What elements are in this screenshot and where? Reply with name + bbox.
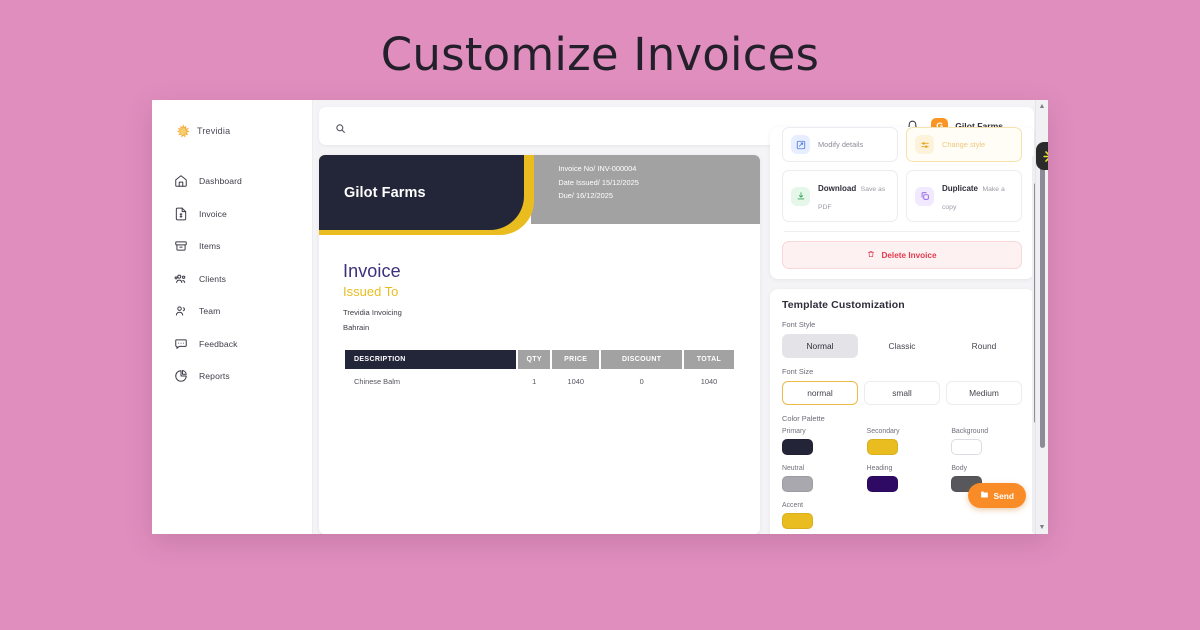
invoice-meta: Invoice No/ INV-000004 Date Issued/ 15/1… xyxy=(548,162,760,203)
panel-title: Template Customization xyxy=(782,299,1022,311)
sidebar-item-clients[interactable]: Clients xyxy=(152,266,312,292)
scroll-up-arrow-icon[interactable]: ▲ xyxy=(1039,103,1046,110)
invoice-actions-panel: Modify details Change st xyxy=(770,127,1034,279)
invoice-line-items-table: DESCRIPTION QTY PRICE DISCOUNT TOTAL Chi… xyxy=(343,350,736,394)
sidebar-item-label: Items xyxy=(199,241,221,251)
download-title: Download xyxy=(818,184,856,193)
font-style-options: Normal Classic Round xyxy=(782,334,1022,358)
divider xyxy=(784,231,1020,232)
right-panel-column: Modify details Change st xyxy=(770,155,1034,534)
window-scrollbar-thumb[interactable] xyxy=(1040,148,1045,448)
swatch-chip[interactable] xyxy=(867,476,898,492)
sliders-icon xyxy=(915,135,934,154)
users-group-icon xyxy=(174,272,188,286)
swatch-chip[interactable] xyxy=(782,439,813,455)
search-icon xyxy=(335,121,346,132)
team-people-icon xyxy=(174,304,188,318)
duplicate-title: Duplicate xyxy=(942,184,978,193)
invoice-preview-card: Gilot Farms Invoice No/ INV-000004 Date … xyxy=(319,155,760,534)
table-row: Chinese Balm 1 1040 0 1040 xyxy=(345,369,734,394)
swatch-background: Background xyxy=(951,428,1022,455)
send-button[interactable]: Send xyxy=(968,483,1026,508)
swatch-chip[interactable] xyxy=(782,476,813,492)
swatch-neutral: Neutral xyxy=(782,465,853,492)
swatch-label: Neutral xyxy=(782,465,853,472)
swatch-primary: Primary xyxy=(782,428,853,455)
invoice-document-icon xyxy=(174,207,188,221)
sidebar-item-label: Feedback xyxy=(199,339,238,349)
invoice-date-issued: Date Issued/ 15/12/2025 xyxy=(558,176,760,190)
font-size-options: normal small Medium xyxy=(782,381,1022,405)
swatch-chip[interactable] xyxy=(867,439,898,455)
color-swatch-grid: Primary Secondary Background xyxy=(782,428,1022,529)
page-title: Customize Invoices xyxy=(0,28,1200,81)
download-icon xyxy=(791,187,810,206)
sidebar-item-label: Dashboard xyxy=(199,176,242,186)
sidebar-item-invoice[interactable]: Invoice xyxy=(152,201,312,227)
font-style-option-classic[interactable]: Classic xyxy=(864,334,940,358)
invoice-due-date: Due/ 16/12/2025 xyxy=(558,189,760,203)
sidebar-item-items[interactable]: Items xyxy=(152,233,312,259)
send-label: Send xyxy=(994,491,1014,501)
sidebar-item-label: Team xyxy=(199,306,220,316)
download-card[interactable]: Download Save as PDF xyxy=(782,170,898,222)
swatch-label: Primary xyxy=(782,428,853,435)
font-style-option-round[interactable]: Round xyxy=(946,334,1022,358)
table-header-row: DESCRIPTION QTY PRICE DISCOUNT TOTAL xyxy=(345,350,734,369)
font-size-option-normal[interactable]: normal xyxy=(782,381,858,405)
copy-icon xyxy=(915,187,934,206)
column-header-description: DESCRIPTION xyxy=(345,350,516,369)
send-folder-icon xyxy=(980,490,989,501)
cell-price: 1040 xyxy=(552,369,599,394)
brand-name: Trevidia xyxy=(197,126,230,136)
search-input[interactable] xyxy=(354,121,554,131)
sidebar-item-reports[interactable]: Reports xyxy=(152,363,312,389)
delete-invoice-label: Delete Invoice xyxy=(881,251,936,260)
edit-square-icon xyxy=(791,135,810,154)
swatch-chip[interactable] xyxy=(951,439,982,455)
column-header-qty: QTY xyxy=(518,350,550,369)
invoice-body: Invoice Issued To Trevidia Invoicing Bah… xyxy=(319,235,760,394)
column-header-price: PRICE xyxy=(552,350,599,369)
invoice-banner: Gilot Farms Invoice No/ INV-000004 Date … xyxy=(319,155,760,235)
change-style-card[interactable]: Change style xyxy=(906,127,1022,162)
sidebar-item-dashboard[interactable]: Dashboard xyxy=(152,168,312,194)
invoice-company-name: Gilot Farms xyxy=(319,185,426,201)
swatch-heading: Heading xyxy=(867,465,938,492)
color-palette-label: Color Palette xyxy=(782,414,1022,423)
swatch-secondary: Secondary xyxy=(867,428,938,455)
trash-icon xyxy=(867,250,875,260)
chat-bubble-icon xyxy=(174,337,188,351)
sidebar-nav: Dashboard Invoice xyxy=(152,168,312,389)
swatch-accent: Accent xyxy=(782,502,853,529)
invoice-client-name: Trevidia Invoicing xyxy=(343,306,736,321)
cell-description: Chinese Balm xyxy=(345,369,516,394)
swatch-label: Secondary xyxy=(867,428,938,435)
box-icon xyxy=(174,239,188,253)
spark-asterisk-icon[interactable] xyxy=(1036,142,1048,170)
invoice-banner-main: Gilot Farms xyxy=(319,155,524,230)
change-style-label: Change style xyxy=(942,140,985,150)
font-size-option-small[interactable]: small xyxy=(864,381,940,405)
action-card-grid: Modify details Change st xyxy=(782,127,1022,222)
pie-chart-icon xyxy=(174,369,188,383)
font-size-option-medium[interactable]: Medium xyxy=(946,381,1022,405)
swatch-label: Body xyxy=(951,465,1022,472)
font-style-label: Font Style xyxy=(782,320,1022,329)
invoice-client-country: Bahrain xyxy=(343,321,736,336)
modify-details-label: Modify details xyxy=(818,140,863,150)
swatch-label: Background xyxy=(951,428,1022,435)
sidebar-item-label: Reports xyxy=(199,371,230,381)
swatch-chip[interactable] xyxy=(782,513,813,529)
delete-invoice-button[interactable]: Delete Invoice xyxy=(782,241,1022,269)
maple-leaf-icon xyxy=(174,122,192,140)
sidebar-item-label: Clients xyxy=(199,274,226,284)
sidebar-item-feedback[interactable]: Feedback xyxy=(152,331,312,357)
cell-discount: 0 xyxy=(601,369,682,394)
invoice-heading: Invoice xyxy=(343,261,736,282)
font-style-option-normal[interactable]: Normal xyxy=(782,334,858,358)
sidebar-item-team[interactable]: Team xyxy=(152,298,312,324)
home-icon xyxy=(174,174,188,188)
column-header-total: TOTAL xyxy=(684,350,734,369)
invoice-client-block: Trevidia Invoicing Bahrain xyxy=(343,306,736,336)
invoice-issued-to-label: Issued To xyxy=(343,284,736,299)
invoice-number: Invoice No/ INV-000004 xyxy=(558,162,760,176)
sidebar-item-label: Invoice xyxy=(199,209,227,219)
column-header-discount: DISCOUNT xyxy=(601,350,682,369)
brand-logo[interactable]: Trevidia xyxy=(152,118,312,140)
scroll-down-arrow-icon[interactable]: ▼ xyxy=(1039,524,1046,531)
modify-details-card[interactable]: Modify details xyxy=(782,127,898,162)
font-size-label: Font Size xyxy=(782,367,1022,376)
sidebar: Trevidia Dashboard xyxy=(152,100,313,534)
app-window: Trevidia Dashboard xyxy=(152,100,1048,534)
swatch-label: Heading xyxy=(867,465,938,472)
swatch-label: Accent xyxy=(782,502,853,509)
cell-qty: 1 xyxy=(518,369,550,394)
duplicate-card[interactable]: Duplicate Make a copy xyxy=(906,170,1022,222)
cell-total: 1040 xyxy=(684,369,734,394)
main-area: G Gilot Farms xyxy=(313,100,1048,534)
